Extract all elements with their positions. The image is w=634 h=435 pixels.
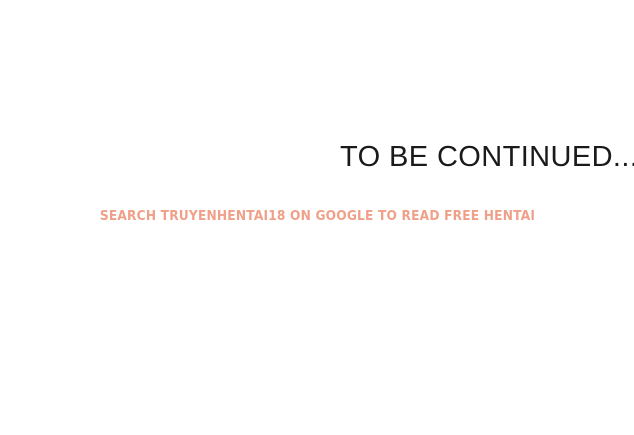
comic-end-panel: TO BE CONTINUED... SEARCH TRUYENHENTAI18… — [0, 0, 634, 435]
to-be-continued-text: TO BE CONTINUED... — [340, 140, 634, 174]
watermark-row: SEARCH TRUYENHENTAI18 ON GOOGLE TO READ … — [0, 207, 634, 225]
site-watermark-text: SEARCH TRUYENHENTAI18 ON GOOGLE TO READ … — [99, 209, 534, 225]
